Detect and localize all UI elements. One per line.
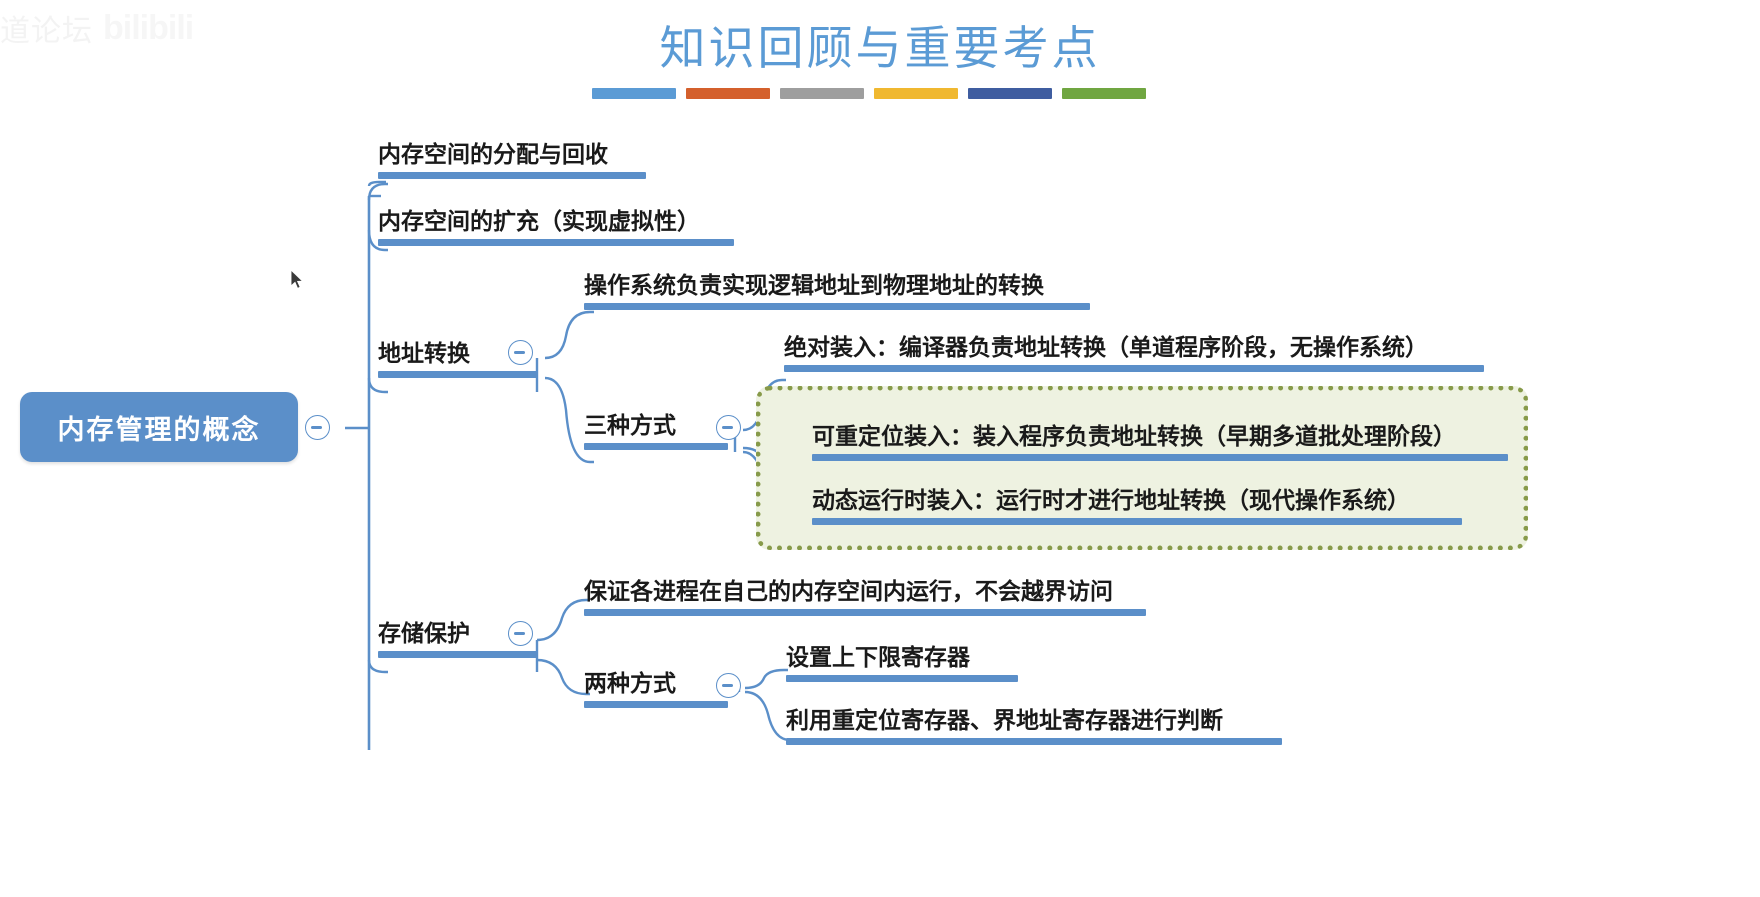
node-dynamic-runtime-loading-label: 动态运行时装入：运行时才进行地址转换（现代操作系统） (812, 487, 1462, 515)
node-memory-allocation-label: 内存空间的分配与回收 (378, 141, 646, 169)
node-underline (378, 651, 538, 658)
node-underline (786, 738, 1282, 745)
node-relocation-register-check-label: 利用重定位寄存器、界地址寄存器进行判断 (786, 707, 1282, 735)
node-os-responsible-translation-label: 操作系统负责实现逻辑地址到物理地址的转换 (584, 272, 1090, 300)
node-underline (584, 701, 728, 708)
node-underline (812, 518, 1462, 525)
node-underline (584, 443, 728, 450)
node-memory-allocation[interactable]: 内存空间的分配与回收 (378, 141, 646, 179)
page-title: 知识回顾与重要考点 (0, 12, 1760, 78)
node-memory-expansion[interactable]: 内存空间的扩充（实现虚拟性） (378, 208, 734, 246)
node-limit-registers-label: 设置上下限寄存器 (786, 644, 1018, 672)
node-relocation-register-check[interactable]: 利用重定位寄存器、界地址寄存器进行判断 (786, 707, 1282, 745)
collapse-minus-icon-two-ways[interactable] (716, 673, 741, 698)
node-underline (784, 365, 1484, 372)
title-bar-3 (780, 88, 864, 99)
node-underline (812, 454, 1508, 461)
root-node[interactable]: 内存管理的概念 (20, 392, 298, 462)
collapse-minus-icon-root[interactable] (305, 415, 330, 440)
node-three-loading-ways[interactable]: 三种方式 (584, 412, 728, 450)
node-relocatable-loading[interactable]: 可重定位装入：装入程序负责地址转换（早期多道批处理阶段） (812, 423, 1508, 461)
node-absolute-loading-label: 绝对装入：编译器负责地址转换（单道程序阶段，无操作系统） (784, 334, 1484, 362)
slide-canvas: 道论坛 bilibili 知识回顾与重要考点 (0, 0, 1760, 897)
node-limit-registers[interactable]: 设置上下限寄存器 (786, 644, 1018, 682)
title-bar-4 (874, 88, 958, 99)
node-underline (786, 675, 1018, 682)
collapse-minus-icon-address-translation[interactable] (508, 340, 533, 365)
node-absolute-loading[interactable]: 绝对装入：编译器负责地址转换（单道程序阶段，无操作系统） (784, 334, 1484, 372)
collapse-minus-icon-storage-protection[interactable] (508, 621, 533, 646)
node-process-isolation-label: 保证各进程在自己的内存空间内运行，不会越界访问 (584, 578, 1146, 606)
title-bar-6 (1062, 88, 1146, 99)
title-bar-5 (968, 88, 1052, 99)
green-dotted-highlight-box (756, 386, 1528, 550)
node-os-responsible-translation[interactable]: 操作系统负责实现逻辑地址到物理地址的转换 (584, 272, 1090, 310)
node-three-loading-ways-label: 三种方式 (584, 412, 728, 440)
node-dynamic-runtime-loading[interactable]: 动态运行时装入：运行时才进行地址转换（现代操作系统） (812, 487, 1462, 525)
title-bar-1 (592, 88, 676, 99)
node-underline (378, 239, 734, 246)
node-underline (584, 609, 1146, 616)
root-node-label: 内存管理的概念 (58, 408, 261, 447)
collapse-minus-icon-three-ways[interactable] (716, 415, 741, 440)
title-bar-2 (686, 88, 770, 99)
node-underline (584, 303, 1090, 310)
node-memory-expansion-label: 内存空间的扩充（实现虚拟性） (378, 208, 734, 236)
node-relocatable-loading-label: 可重定位装入：装入程序负责地址转换（早期多道批处理阶段） (812, 423, 1508, 451)
title-decoration-bars (592, 88, 1146, 99)
node-two-protection-ways-label: 两种方式 (584, 670, 728, 698)
mouse-pointer-icon (291, 270, 305, 290)
node-two-protection-ways[interactable]: 两种方式 (584, 670, 728, 708)
node-underline (378, 371, 538, 378)
node-underline (378, 172, 646, 179)
node-process-isolation[interactable]: 保证各进程在自己的内存空间内运行，不会越界访问 (584, 578, 1146, 616)
